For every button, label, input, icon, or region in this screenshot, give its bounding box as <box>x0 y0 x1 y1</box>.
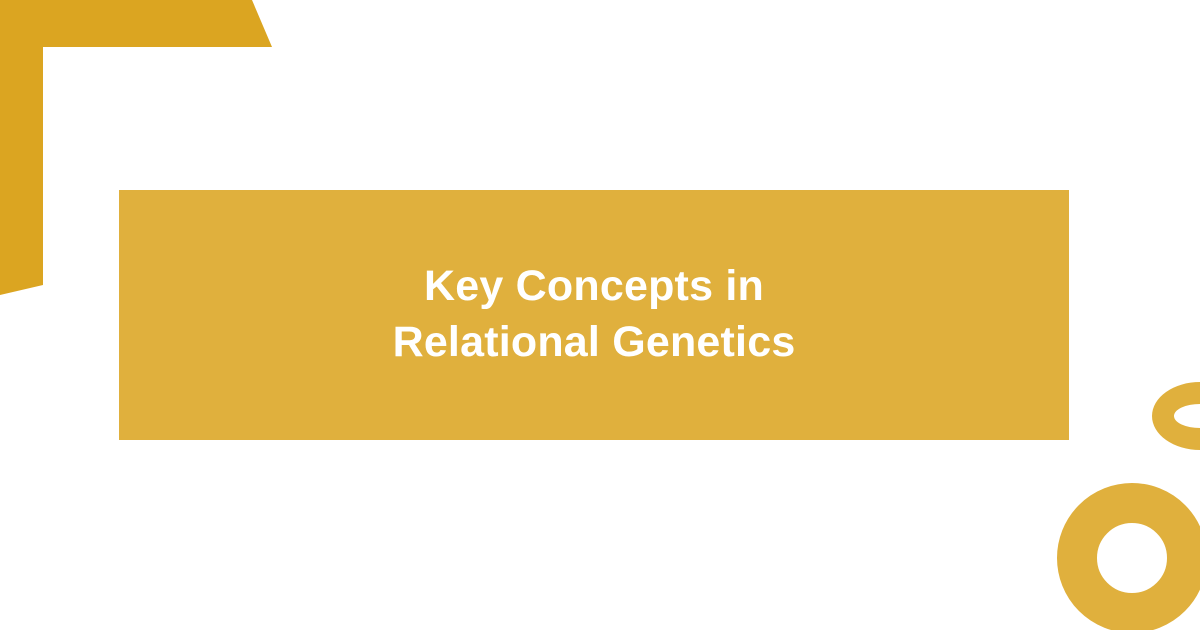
banner-canvas: Key Concepts in Relational Genetics <box>0 0 1200 630</box>
page-title: Key Concepts in Relational Genetics <box>353 259 836 371</box>
large-ring-icon <box>1057 483 1200 630</box>
title-plate: Key Concepts in Relational Genetics <box>119 190 1069 440</box>
small-ring-icon <box>1152 382 1200 450</box>
